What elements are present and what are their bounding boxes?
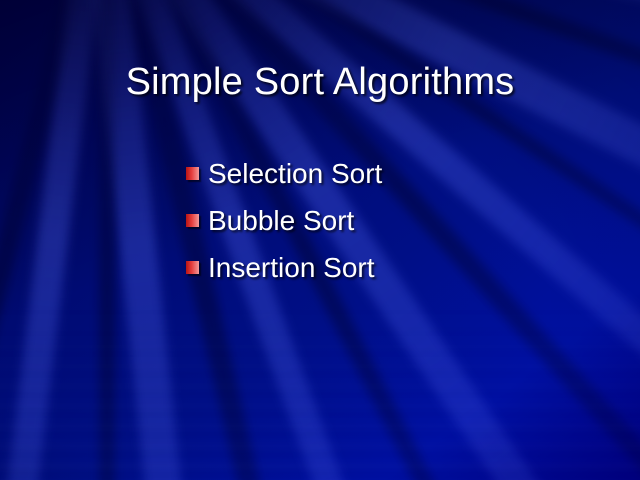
list-item-label: Selection Sort <box>208 158 382 190</box>
presentation-slide: Simple Sort Algorithms Selection Sort Bu… <box>0 0 640 480</box>
list-item: Bubble Sort <box>186 205 382 252</box>
list-item: Insertion Sort <box>186 252 382 299</box>
slide-content: Simple Sort Algorithms Selection Sort Bu… <box>0 0 640 480</box>
square-bullet-icon <box>186 261 199 274</box>
list-item-label: Insertion Sort <box>208 252 375 284</box>
slide-title: Simple Sort Algorithms <box>0 61 640 104</box>
list-item-label: Bubble Sort <box>208 205 354 237</box>
bullet-list: Selection Sort Bubble Sort Insertion Sor… <box>186 158 382 299</box>
square-bullet-icon <box>186 167 199 180</box>
list-item: Selection Sort <box>186 158 382 205</box>
square-bullet-icon <box>186 214 199 227</box>
